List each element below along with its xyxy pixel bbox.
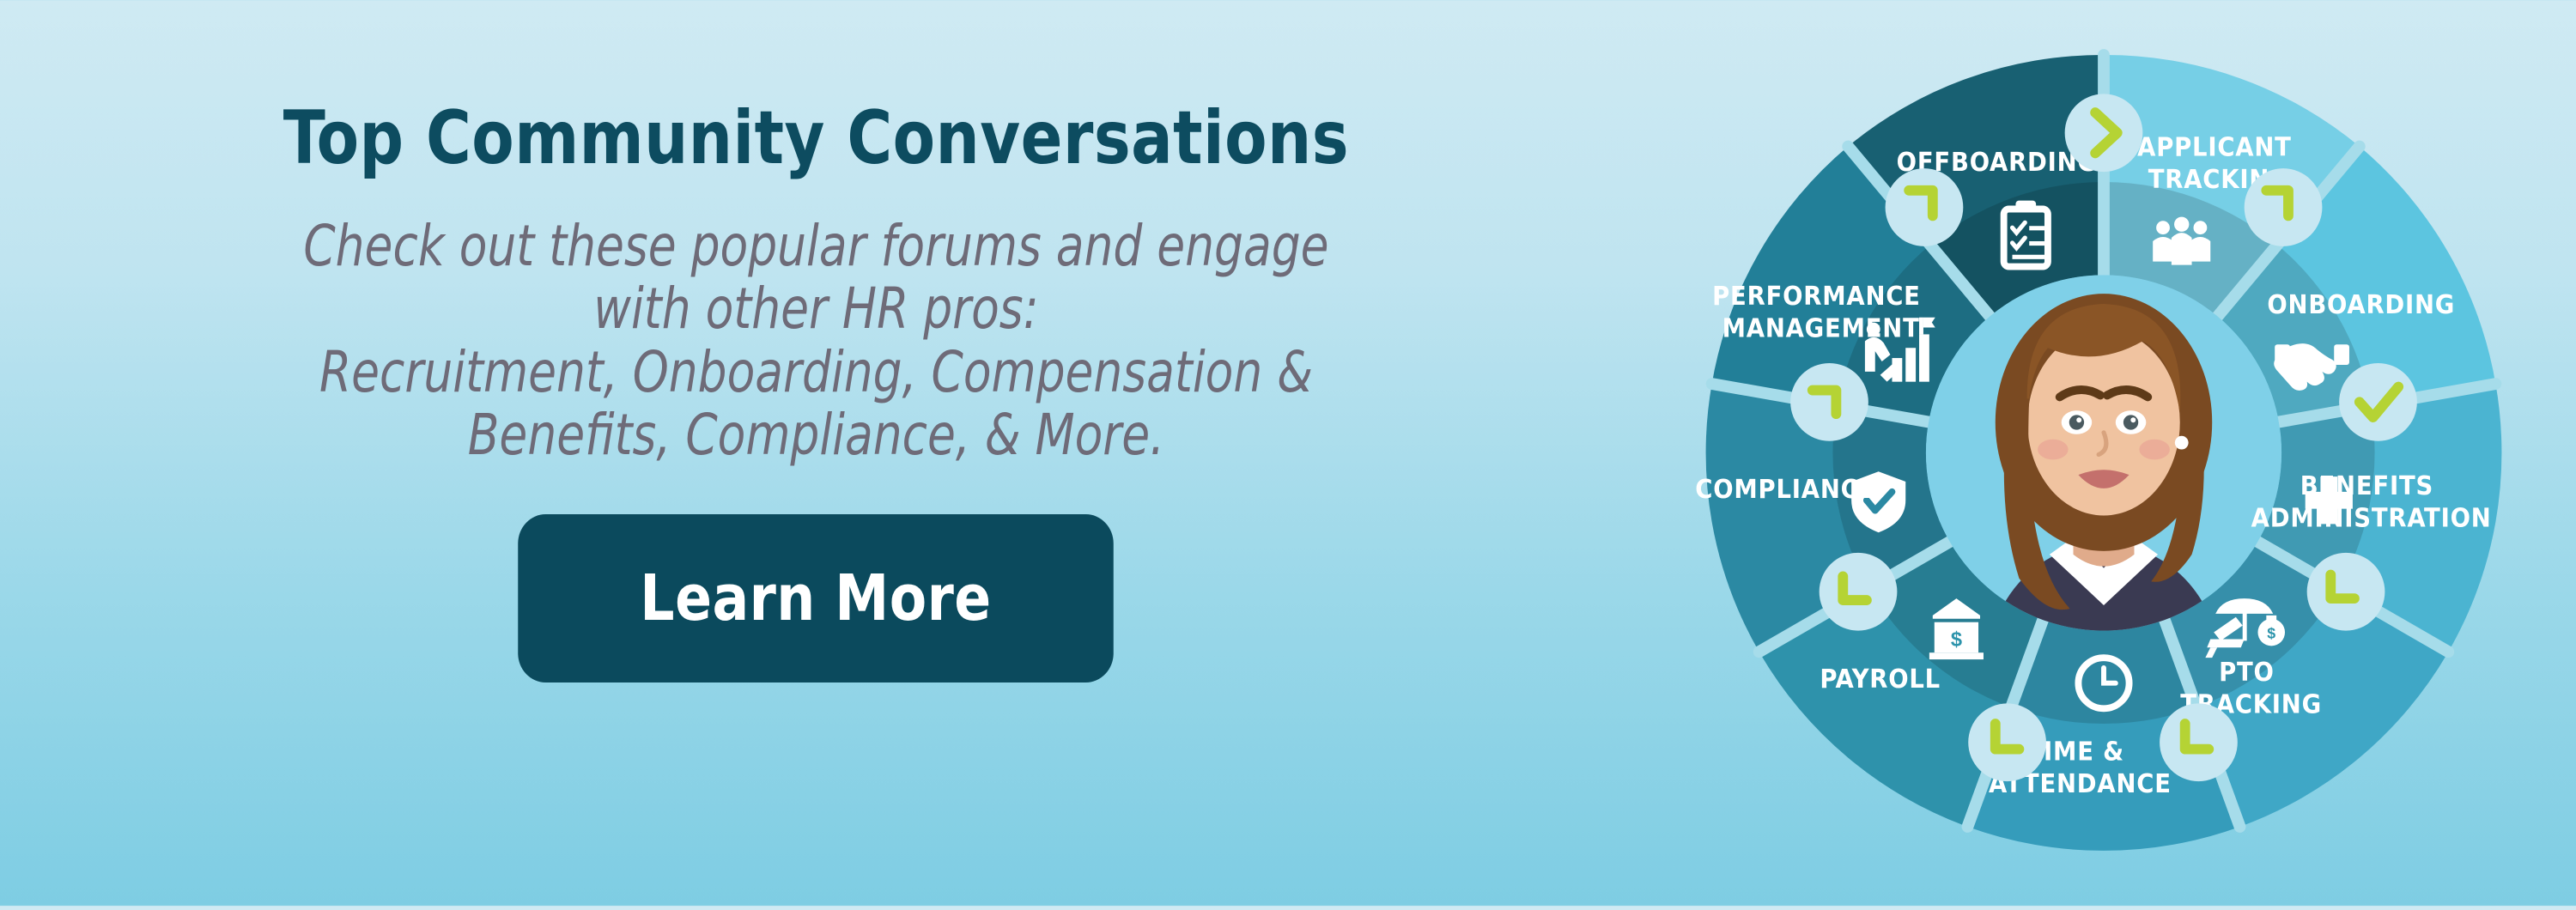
hr-wheel-diagram: $ $ [1636, 0, 2572, 910]
svg-text:$: $ [1951, 628, 1962, 651]
node-pto-time[interactable] [2160, 703, 2238, 781]
node-payroll-compliance[interactable] [1820, 553, 1898, 631]
subcopy-line-2: with other HR pros: [303, 277, 1328, 340]
people-group-icon [2153, 217, 2210, 265]
node-performance-offboarding[interactable] [1886, 168, 1964, 246]
subcopy: Check out these popular forums and engag… [303, 215, 1328, 466]
subcopy-line-1: Check out these popular forums and engag… [303, 215, 1328, 277]
page-title: Top Community Conversations [283, 101, 1348, 175]
segment-label-onboarding: ONBOARDING [2267, 289, 2455, 319]
svg-text:$: $ [2267, 624, 2275, 641]
subcopy-line-4: Benefits, Compliance, & More. [303, 403, 1328, 466]
cta-container: Learn More [502, 514, 1129, 682]
segment-label-compliance: COMPLIANCE [1695, 474, 1875, 504]
promo-banner: Top Community Conversations Check out th… [0, 0, 2576, 906]
copy-block: Top Community Conversations Check out th… [0, 0, 1631, 906]
node-onboarding-benefits[interactable] [2339, 363, 2417, 441]
node-time-payroll[interactable] [1968, 703, 2046, 781]
learn-more-button[interactable]: Learn More [518, 514, 1114, 682]
node-benefits-pto[interactable] [2307, 553, 2385, 631]
node-compliance-performance[interactable] [1790, 363, 1868, 441]
node-applicant-onboarding[interactable] [2245, 168, 2323, 246]
subcopy-line-3: Recruitment, Onboarding, Compensation & [303, 341, 1328, 403]
segment-label-payroll: PAYROLL [1820, 664, 1941, 694]
node-top-chevron[interactable] [2065, 94, 2143, 172]
